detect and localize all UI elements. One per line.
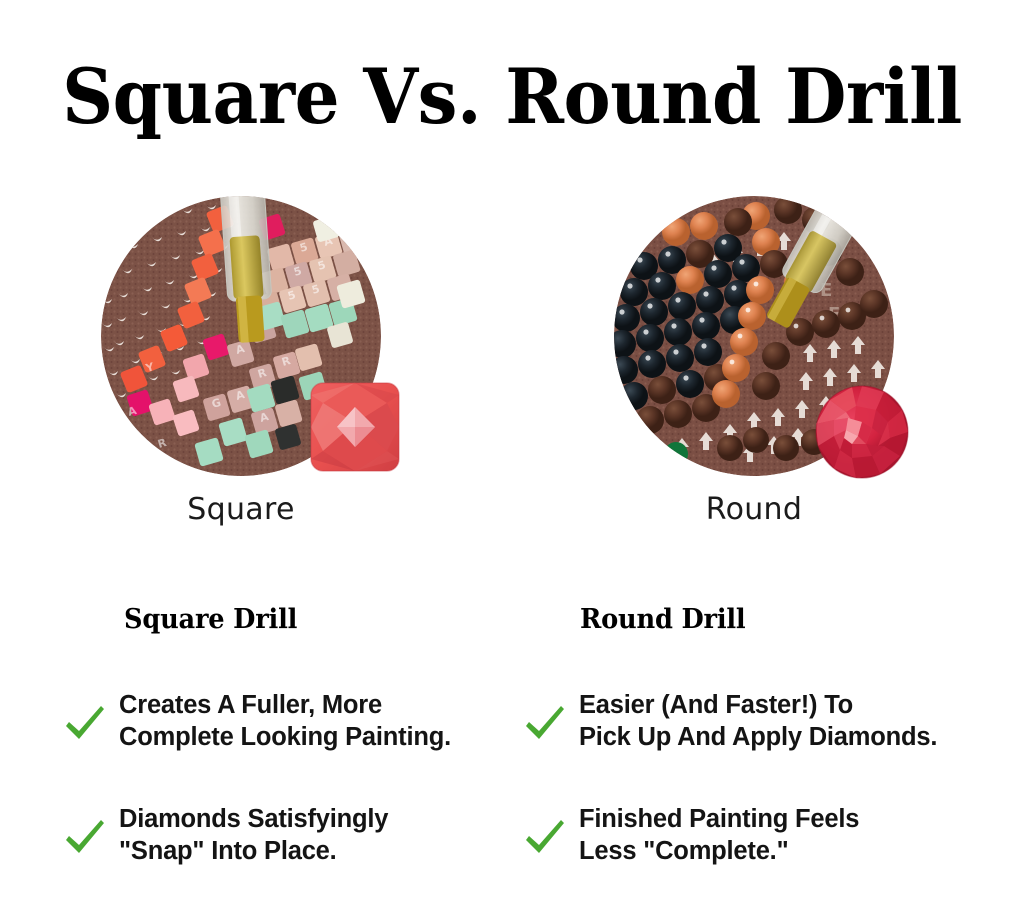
list-item-label: Finished Painting Feels Less "Complete." <box>579 803 859 867</box>
square-photo-wrap: 5 A 5 5 5 5 G A R A G R <box>61 196 421 486</box>
canvas-symbols <box>101 214 110 216</box>
list-item: Finished Painting Feels Less "Complete." <box>522 803 942 867</box>
square-drill-photo-block: 5 A 5 5 5 5 G A R A G R <box>61 196 421 486</box>
round-drill-heading: Round Drill <box>580 604 924 635</box>
list-item: Easier (And Faster!) To Pick Up And Appl… <box>522 689 942 753</box>
check-icon <box>522 700 568 746</box>
list-item-label: Creates A Fuller, More Complete Looking … <box>119 689 451 753</box>
list-item-label: Easier (And Faster!) To Pick Up And Appl… <box>579 689 937 753</box>
round-photo-wrap: E F <box>574 196 934 486</box>
check-icon <box>62 700 108 746</box>
square-drill-heading: Square Drill <box>124 604 464 635</box>
round-gem-icon <box>814 384 910 480</box>
check-icon <box>62 814 108 860</box>
list-item: Creates A Fuller, More Complete Looking … <box>62 689 482 753</box>
round-drill-bullets: Easier (And Faster!) To Pick Up And Appl… <box>522 689 942 867</box>
round-drill-photo-block: E F <box>574 196 934 486</box>
square-drill-column: Square Drill Creates A Fuller, More Comp… <box>62 604 482 917</box>
round-photo-caption: Round <box>574 492 934 527</box>
page-title: Square Vs. Round Drill <box>36 52 988 141</box>
square-drill-bullets: Creates A Fuller, More Complete Looking … <box>62 689 482 867</box>
check-icon <box>522 814 568 860</box>
square-photo-caption: Square <box>61 492 421 527</box>
list-item-label: Diamonds Satisfyingly "Snap" Into Place. <box>119 803 388 867</box>
list-item: Diamonds Satisfyingly "Snap" Into Place. <box>62 803 482 867</box>
square-gem-icon <box>309 381 401 473</box>
infographic-page: Square Vs. Round Drill <box>0 0 1024 922</box>
round-drill-column: Round Drill Easier (And Faster!) To Pick… <box>522 604 942 917</box>
